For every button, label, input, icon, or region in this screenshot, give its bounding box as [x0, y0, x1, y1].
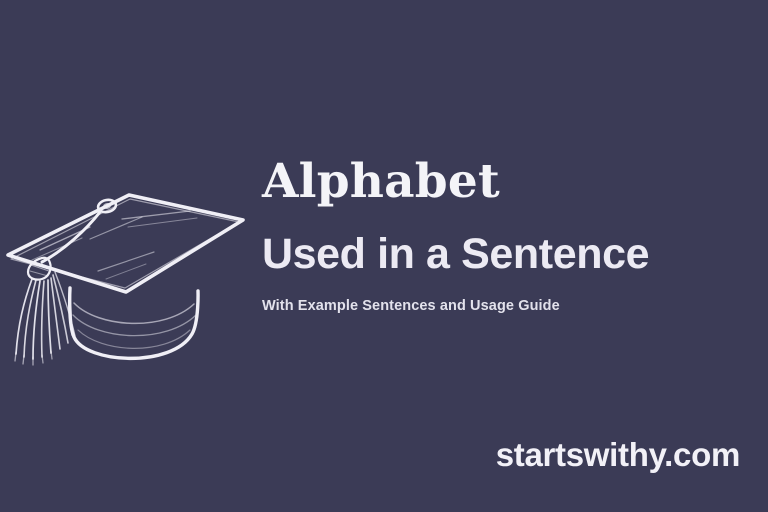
graduation-cap-icon: [0, 138, 254, 378]
title-card: Alphabet Used in a Sentence With Example…: [0, 0, 768, 512]
page-title: Alphabet: [262, 158, 754, 206]
title-text-block: Alphabet Used in a Sentence With Example…: [262, 158, 754, 315]
headline: Used in a Sentence: [262, 232, 754, 278]
brand-domain: startswithy.com: [496, 438, 740, 471]
tagline: With Example Sentences and Usage Guide: [262, 298, 754, 315]
